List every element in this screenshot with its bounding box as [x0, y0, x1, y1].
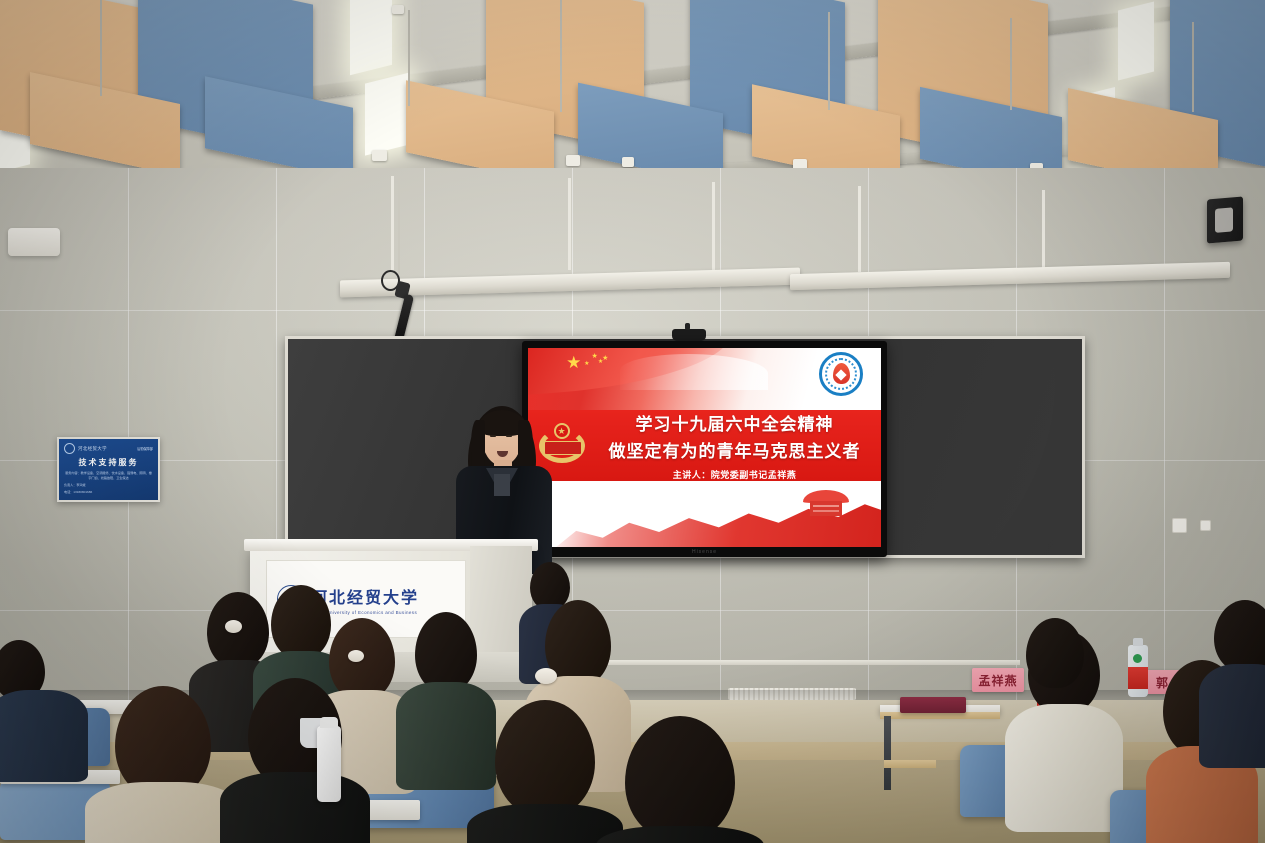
- person-torso: [596, 826, 764, 843]
- institution-logo-icon: [819, 352, 863, 396]
- ceiling-light: [1118, 2, 1154, 81]
- technical-support-plaque: 河北经贸大学 后勤保障部 技术支持服务 服务内容：教学设备、空调报修、饮水设备、…: [57, 437, 160, 502]
- wall-ac-unit: [8, 228, 60, 256]
- side-desk-leg: [884, 716, 891, 790]
- person-torso: [1199, 664, 1265, 768]
- desk-folder: [900, 697, 966, 713]
- presentation-display[interactable]: ★ ★ ★ ★ ★ ★ 学习十九届六中全会精神: [522, 341, 887, 557]
- baffle-hanger: [828, 12, 830, 110]
- audience-member: [0, 640, 85, 770]
- plaque-body: 服务内容：教学设备、空调报修、饮水设备、强弱电、照明、楼宇门窗、线路故障、卫生保…: [64, 471, 153, 480]
- slide-title-band: ★ 学习十九届六中全会精神 做坚定有为的青年马克思主义者 主讲人：院党委副书记孟…: [528, 410, 881, 482]
- china-flag-stars: ★ ★ ★ ★ ★: [549, 353, 655, 373]
- person-torso: [220, 772, 370, 843]
- plaque-header: 河北经贸大学 后勤保障部: [64, 443, 153, 454]
- wall-outlet[interactable]: [1200, 520, 1211, 531]
- hair-tie: [348, 650, 364, 662]
- person-head: [495, 700, 595, 816]
- flag-star-small: ★: [584, 361, 589, 367]
- baffle-hanger: [1010, 18, 1012, 110]
- person-head: [1214, 600, 1265, 672]
- person-head: [415, 612, 477, 692]
- great-wall-tower-graphic: [803, 490, 849, 516]
- ceiling-light: [350, 0, 392, 75]
- wall-ledge: [600, 660, 1020, 665]
- bottle-cap: [1133, 638, 1143, 646]
- suspension-rod: [1042, 190, 1045, 274]
- person-head: [625, 716, 735, 840]
- slide-title-line-2: 做坚定有为的青年马克思主义者: [609, 437, 861, 462]
- ceiling-junction-box: [622, 157, 634, 167]
- person-torso: [85, 782, 241, 843]
- ceiling-light: [365, 72, 410, 155]
- tower-base: [810, 501, 842, 516]
- ceiling-camera: [672, 329, 706, 341]
- lecture-hall-photo: 河北经贸大学 后勤保障部 技术支持服务 服务内容：教学设备、空调报修、饮水设备、…: [0, 0, 1265, 843]
- audience-member: [88, 686, 238, 843]
- hair-tie: [225, 620, 242, 633]
- plaque-university: 河北经贸大学: [78, 446, 107, 452]
- audience-member: [470, 700, 620, 843]
- thermos-flask[interactable]: [317, 726, 341, 802]
- slide-title-line-1: 学习十九届六中全会精神: [636, 410, 834, 435]
- baffle-hanger: [408, 10, 410, 106]
- slide-presenter-line: 主讲人：院党委副书记孟祥燕: [673, 468, 797, 481]
- baffle-hanger: [560, 0, 562, 112]
- suspension-rod: [858, 186, 861, 272]
- person-head: [1026, 618, 1084, 688]
- presenter-inner-shirt: [494, 474, 510, 496]
- microphone-cable: [398, 178, 400, 274]
- audience-member: [1200, 600, 1265, 760]
- audience-member: [1012, 618, 1098, 738]
- flag-star-large: ★: [566, 354, 581, 371]
- baffle-hanger: [100, 0, 102, 96]
- plaque-department: 后勤保障部: [137, 446, 153, 451]
- wall-outlet[interactable]: [1172, 518, 1187, 533]
- logo-flame-icon: [833, 363, 850, 384]
- slide-footer-graphic: [528, 481, 881, 547]
- audience-member: [222, 678, 368, 843]
- slide-title-group: 学习十九届六中全会精神 做坚定有为的青年马克思主义者 主讲人：院党委副书记孟祥燕: [599, 410, 871, 482]
- slide-screen: ★ ★ ★ ★ ★ ★ 学习十九届六中全会精神: [528, 348, 881, 547]
- wall-speaker: [1207, 196, 1243, 243]
- side-desk-shelf: [884, 760, 936, 768]
- university-badge-icon: [64, 443, 75, 454]
- plaque-phone: 电话：13930801686: [64, 489, 153, 494]
- thermos-cap: [320, 717, 338, 728]
- presenter-eye: [490, 435, 496, 437]
- ceiling-junction-box: [372, 150, 387, 161]
- suspension-rod: [712, 182, 715, 270]
- monitor-brand-label: Hisense: [692, 549, 717, 555]
- person-torso: [0, 690, 88, 782]
- audience-member: [600, 716, 760, 843]
- hair-tie: [535, 668, 557, 684]
- ceiling-junction-box: [392, 5, 404, 14]
- ceiling: [0, 0, 1265, 180]
- presenter-eye: [506, 435, 512, 437]
- plaque-contact: 负责人：李鸿斌: [64, 482, 153, 487]
- ceiling-junction-box: [566, 155, 580, 166]
- bottle-label: [1128, 667, 1148, 689]
- side-desk-edge: [880, 712, 1000, 719]
- baffle-hanger: [1192, 22, 1194, 112]
- plaque-title: 技术支持服务: [64, 457, 153, 468]
- flag-star-small: ★: [592, 353, 598, 360]
- suspension-rod: [391, 176, 394, 272]
- suspension-rod: [568, 178, 571, 270]
- flag-star-small: ★: [598, 359, 603, 365]
- water-bottle[interactable]: [1128, 645, 1148, 697]
